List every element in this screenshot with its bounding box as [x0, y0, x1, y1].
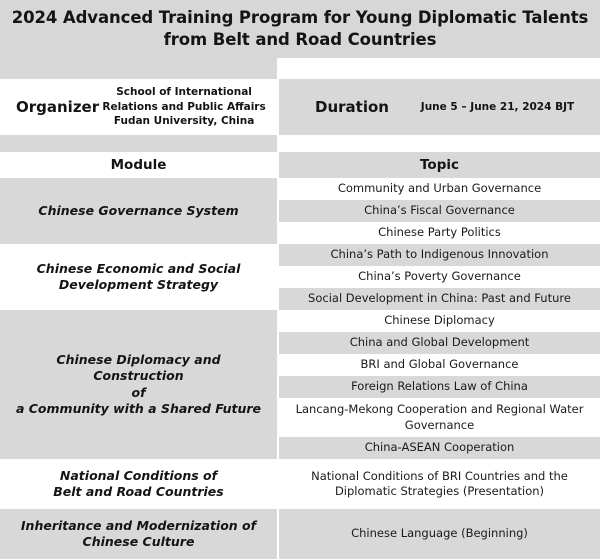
topic-name-line: China-ASEAN Cooperation: [365, 440, 515, 454]
topic-cell: China’s Poverty Governance: [279, 266, 600, 288]
topic-name-line: Diplomatic Strategies (Presentation): [335, 484, 544, 498]
topic-name-line: China’s Poverty Governance: [358, 269, 521, 283]
topic-cell: China’s Fiscal Governance: [279, 200, 600, 222]
module-name-line: Belt and Road Countries: [53, 484, 223, 499]
info-row: Organizer School of International Relati…: [0, 79, 600, 135]
schedule-body: Chinese Governance SystemChinese Economi…: [0, 178, 600, 559]
organizer-cell: Organizer School of International Relati…: [0, 79, 277, 135]
schedule-table: Organizer School of International Relati…: [0, 58, 600, 547]
topic-name: China’s Path to Indigenous Innovation: [331, 247, 549, 262]
topic-name: China and Global Development: [350, 335, 530, 350]
topic-cell: Chinese Language (Beginning): [279, 509, 600, 559]
module-name: Inheritance and Modernization ofChinese …: [21, 518, 256, 551]
module-name-line: Chinese Economic and Social: [37, 261, 241, 276]
page-title-line-2: from Belt and Road Countries: [164, 29, 437, 51]
topic-cell: Chinese Diplomacy: [279, 310, 600, 332]
topic-name: Lancang-Mekong Cooperation and Regional …: [296, 402, 584, 432]
module-cell: Chinese Diplomacy and Constructionofa Co…: [0, 310, 277, 459]
topic-name: China-ASEAN Cooperation: [365, 440, 515, 455]
topic-name-line: Community and Urban Governance: [338, 181, 541, 195]
topic-name: Chinese Diplomacy: [384, 313, 495, 328]
module-name: Chinese Economic and SocialDevelopment S…: [37, 261, 241, 294]
spacer-right: [279, 58, 600, 79]
topic-cell: National Conditions of BRI Countries and…: [279, 459, 600, 509]
topic-cell: Foreign Relations Law of China: [279, 376, 600, 398]
module-cell: Chinese Economic and SocialDevelopment S…: [0, 244, 277, 310]
spacer-left: [0, 135, 277, 152]
duration-value: June 5 – June 21, 2024 BJT: [389, 101, 600, 113]
topic-name-line: Lancang-Mekong Cooperation and Regional …: [296, 402, 584, 416]
topic-name-line: Social Development in China: Past and Fu…: [308, 291, 571, 305]
topic-cell: Social Development in China: Past and Fu…: [279, 288, 600, 310]
table-header-row: Module Topic: [0, 152, 600, 178]
module-cell: National Conditions ofBelt and Road Coun…: [0, 459, 277, 509]
duration-cell: Duration June 5 – June 21, 2024 BJT: [279, 79, 600, 135]
module-column: Chinese Governance SystemChinese Economi…: [0, 178, 277, 559]
topic-name-line: National Conditions of BRI Countries and…: [311, 469, 568, 483]
spacer-row-top: [0, 58, 600, 79]
spacer-left: [0, 58, 277, 79]
topic-cell: China and Global Development: [279, 332, 600, 354]
organizer-value-line-3: Fudan University, China: [114, 115, 254, 127]
topic-name-line: China’s Path to Indigenous Innovation: [331, 247, 549, 261]
topic-name: BRI and Global Governance: [361, 357, 519, 372]
topic-name: Chinese Party Politics: [378, 225, 501, 240]
topic-name-line: BRI and Global Governance: [361, 357, 519, 371]
organizer-value-line-1: School of International: [116, 86, 252, 98]
module-cell: Inheritance and Modernization ofChinese …: [0, 509, 277, 559]
topic-name: Chinese Language (Beginning): [351, 526, 528, 541]
topic-column: Community and Urban GovernanceChina’s Fi…: [279, 178, 600, 559]
topic-name: National Conditions of BRI Countries and…: [311, 469, 568, 499]
module-header-cell: Module: [0, 152, 277, 178]
topic-name: Foreign Relations Law of China: [351, 379, 528, 394]
topic-name-line: Chinese Diplomacy: [384, 313, 495, 327]
topic-cell: China’s Path to Indigenous Innovation: [279, 244, 600, 266]
topic-name-line: China’s Fiscal Governance: [364, 203, 515, 217]
duration-label: Duration: [315, 98, 389, 116]
module-header-label: Module: [111, 157, 167, 173]
topic-header-label: Topic: [420, 157, 459, 173]
topic-name-line: Chinese Party Politics: [378, 225, 501, 239]
topic-name: China’s Fiscal Governance: [364, 203, 515, 218]
module-cell: Chinese Governance System: [0, 178, 277, 244]
topic-cell: BRI and Global Governance: [279, 354, 600, 376]
topic-name: China’s Poverty Governance: [358, 269, 521, 284]
topic-name: Social Development in China: Past and Fu…: [308, 291, 571, 306]
topic-name: Community and Urban Governance: [338, 181, 541, 196]
module-name-line: Chinese Governance System: [38, 203, 238, 218]
organizer-value-line-2: Relations and Public Affairs: [102, 101, 265, 113]
page-title: 2024 Advanced Training Program for Young…: [0, 0, 600, 58]
topic-name-line: Foreign Relations Law of China: [351, 379, 528, 393]
module-name-line: Inheritance and Modernization of: [21, 518, 256, 533]
module-name-line: Development Strategy: [59, 277, 218, 292]
module-name-line: Chinese Diplomacy and Construction: [56, 352, 220, 384]
topic-cell: Lancang-Mekong Cooperation and Regional …: [279, 398, 600, 437]
program-schedule-page: 2024 Advanced Training Program for Young…: [0, 0, 600, 547]
organizer-value: School of International Relations and Pu…: [99, 85, 277, 130]
page-title-line-1: 2024 Advanced Training Program for Young…: [12, 7, 589, 29]
module-name: National Conditions ofBelt and Road Coun…: [53, 468, 223, 501]
topic-cell: Chinese Party Politics: [279, 222, 600, 244]
organizer-label: Organizer: [16, 98, 99, 116]
module-name-line: National Conditions of: [60, 468, 217, 483]
topic-header-cell: Topic: [279, 152, 600, 178]
topic-name-line: China and Global Development: [350, 335, 530, 349]
module-name: Chinese Governance System: [38, 203, 238, 220]
topic-name-line: Chinese Language (Beginning): [351, 526, 528, 540]
module-name: Chinese Diplomacy and Constructionofa Co…: [10, 352, 267, 418]
spacer-row-middle: [0, 135, 600, 152]
module-name-line: a Community with a Shared Future: [16, 401, 261, 416]
topic-cell: Community and Urban Governance: [279, 178, 600, 200]
spacer-right: [279, 135, 600, 152]
module-name-line: of: [131, 385, 145, 400]
topic-name-line: Governance: [405, 418, 474, 432]
topic-cell: China-ASEAN Cooperation: [279, 437, 600, 459]
